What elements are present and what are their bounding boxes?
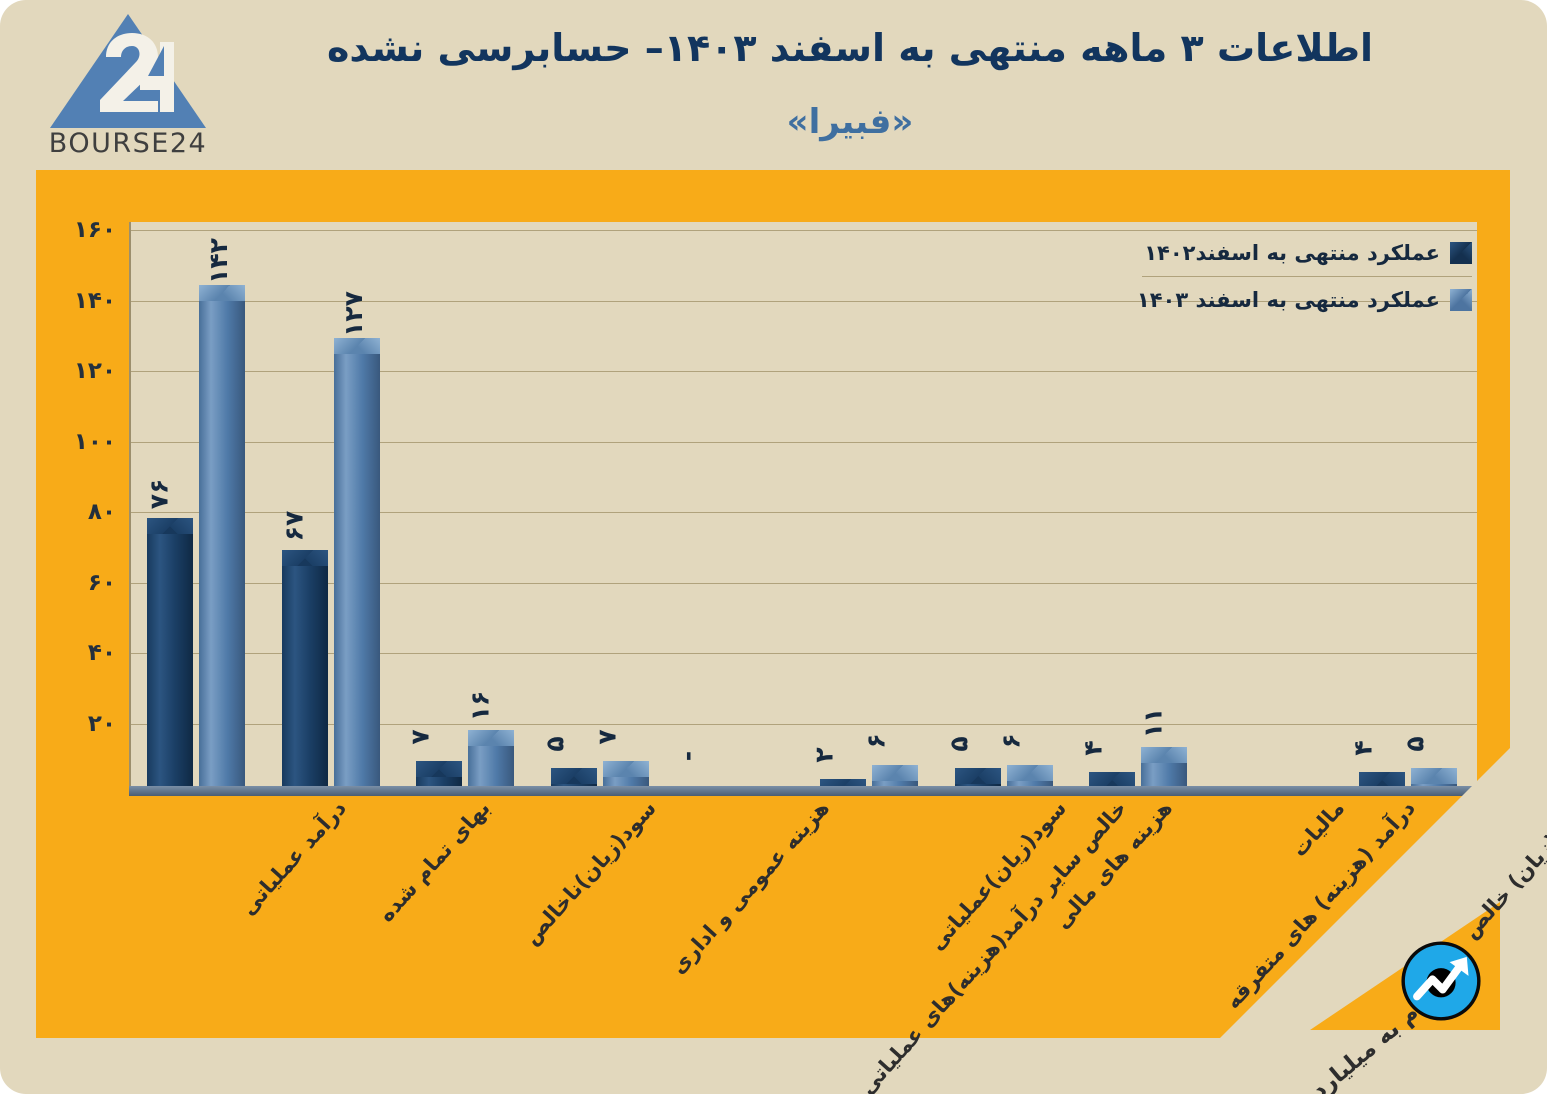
legend-swatch-icon-1403 [1450, 289, 1472, 311]
y-axis-tick-label: ۱۲۰ [36, 358, 116, 384]
legend-label-1402: عملکرد منتهی به اسفند۱۴۰۲ [1144, 241, 1440, 265]
bar-series1[interactable] [416, 761, 462, 786]
bar-top-cap [416, 761, 462, 777]
x-axis-category-label: بهای تمام شده [374, 796, 495, 926]
bar-series1[interactable] [282, 550, 328, 786]
legend-swatch-icon-1402 [1450, 242, 1472, 264]
bar-series2[interactable] [334, 338, 380, 786]
bar-value-label: ۷ [406, 730, 435, 745]
bar-series1[interactable] [1089, 772, 1135, 786]
bar-value-label: ۷۶ [145, 479, 174, 510]
bar-group: ۷۱۶ [398, 222, 533, 786]
bar-group: ۶۷۱۲۷ [264, 222, 399, 786]
bar-value-label: ۱۴۲ [204, 239, 233, 285]
bar-top-cap [955, 768, 1001, 784]
bar-top-cap [872, 765, 918, 781]
y-axis-tick-label: ۴۰ [36, 640, 116, 666]
bar-series1[interactable] [1359, 772, 1405, 786]
y-axis-labels: ۱۶۰۱۴۰۱۲۰۱۰۰۸۰۶۰۴۰۲۰ [36, 210, 124, 806]
y-axis-tick-label: ۶۰ [36, 570, 116, 596]
bar-series2[interactable] [1141, 747, 1187, 786]
bar-value-label: ۶۷ [279, 511, 308, 542]
bar-value-label: ۵ [1400, 737, 1429, 752]
bar-value-label: ۶ [997, 733, 1026, 748]
x-axis-category-label: مالیات [1287, 796, 1349, 861]
chart-legend: عملکرد منتهی به اسفند۱۴۰۲ عملکرد منتهی ب… [1142, 230, 1472, 323]
bar-body [199, 285, 245, 786]
bar-series2[interactable] [468, 730, 514, 786]
bar-group: ۲۶ [802, 222, 937, 786]
bar-top-cap [282, 550, 328, 566]
bar-top-cap [147, 518, 193, 534]
x-axis-category-label: سود(زیان)ناخالص [519, 796, 661, 949]
bar-series2[interactable] [1411, 768, 1457, 786]
bar-series2[interactable] [872, 765, 918, 786]
bar-top-cap [1141, 747, 1187, 763]
bar-series2[interactable] [199, 285, 245, 786]
bourse24-logo: BOURSE24 [38, 12, 218, 162]
bar-series1[interactable] [820, 779, 866, 786]
bar-top-cap [468, 730, 514, 746]
bar-series1[interactable] [955, 768, 1001, 786]
bar-group: ۷۶۱۴۲ [129, 222, 264, 786]
x-axis-category-labels: درآمد عملیاتیبهای تمام شدهسود(زیان)ناخال… [36, 796, 1510, 1036]
bar-group: - [667, 222, 802, 786]
infographic-root: BOURSE24 اطلاعات ۳ ماهه منتهی به اسفند ۱… [0, 0, 1547, 1094]
x-axis-line [129, 786, 1475, 796]
bar-value-label: ۶ [862, 733, 891, 748]
y-axis-tick-label: ۱۴۰ [36, 288, 116, 314]
bar-value-label: ۵ [541, 737, 570, 752]
bar-value-label: - [673, 751, 702, 761]
bar-value-label: ۴ [1348, 740, 1377, 755]
bar-top-cap [199, 285, 245, 301]
bar-top-cap [1411, 768, 1457, 784]
triangle-24-logo-icon [48, 12, 208, 130]
page-subtitle: «فبیرا» [230, 102, 1470, 142]
bar-value-label: ۱۱ [1139, 708, 1168, 739]
x-axis-category-label: درآمد عملیاتی [236, 796, 351, 920]
bar-top-cap [603, 761, 649, 777]
bar-value-label: ۷ [593, 730, 622, 745]
y-axis-tick-label: ۸۰ [36, 499, 116, 525]
bar-value-label: ۱۶ [466, 690, 495, 721]
x-axis-category-label: خالص سایر درآمد(هزینه)های عملیاتی [855, 796, 1131, 1094]
x-axis-category-label: هزینه عمومی و اداری [666, 796, 834, 979]
bar-group: ۵۶ [937, 222, 1072, 786]
bar-body [282, 550, 328, 786]
legend-item-1402[interactable]: عملکرد منتهی به اسفند۱۴۰۲ [1142, 230, 1472, 276]
bar-series1[interactable] [147, 518, 193, 786]
y-axis-tick-label: ۱۶۰ [36, 217, 116, 243]
bar-group: ۵۷ [533, 222, 668, 786]
logo-wordmark: BOURSE24 [38, 128, 218, 159]
bar-body [147, 518, 193, 786]
bar-top-cap [551, 768, 597, 784]
bar-series2[interactable] [603, 761, 649, 786]
bar-body [334, 338, 380, 786]
bar-series2[interactable] [1007, 765, 1053, 786]
legend-label-1403: عملکرد منتهی به اسفند ۱۴۰۳ [1137, 288, 1440, 312]
y-axis-tick-label: ۲۰ [36, 711, 116, 737]
bar-value-label: ۵ [945, 737, 974, 752]
legend-item-1403[interactable]: عملکرد منتهی به اسفند ۱۴۰۳ [1142, 277, 1472, 323]
x-axis-category-label: سود(زیان) خالص [1458, 796, 1547, 943]
bar-value-label: ۲ [810, 747, 839, 762]
bar-top-cap [334, 338, 380, 354]
bar-value-label: ۴ [1079, 740, 1108, 755]
page-title: اطلاعات ۳ ماهه منتهی به اسفند ۱۴۰۳– حساب… [230, 26, 1470, 70]
y-axis-tick-label: ۱۰۰ [36, 429, 116, 455]
bar-series1[interactable] [551, 768, 597, 786]
bar-value-label: ۱۲۷ [339, 291, 368, 337]
bar-top-cap [1007, 765, 1053, 781]
